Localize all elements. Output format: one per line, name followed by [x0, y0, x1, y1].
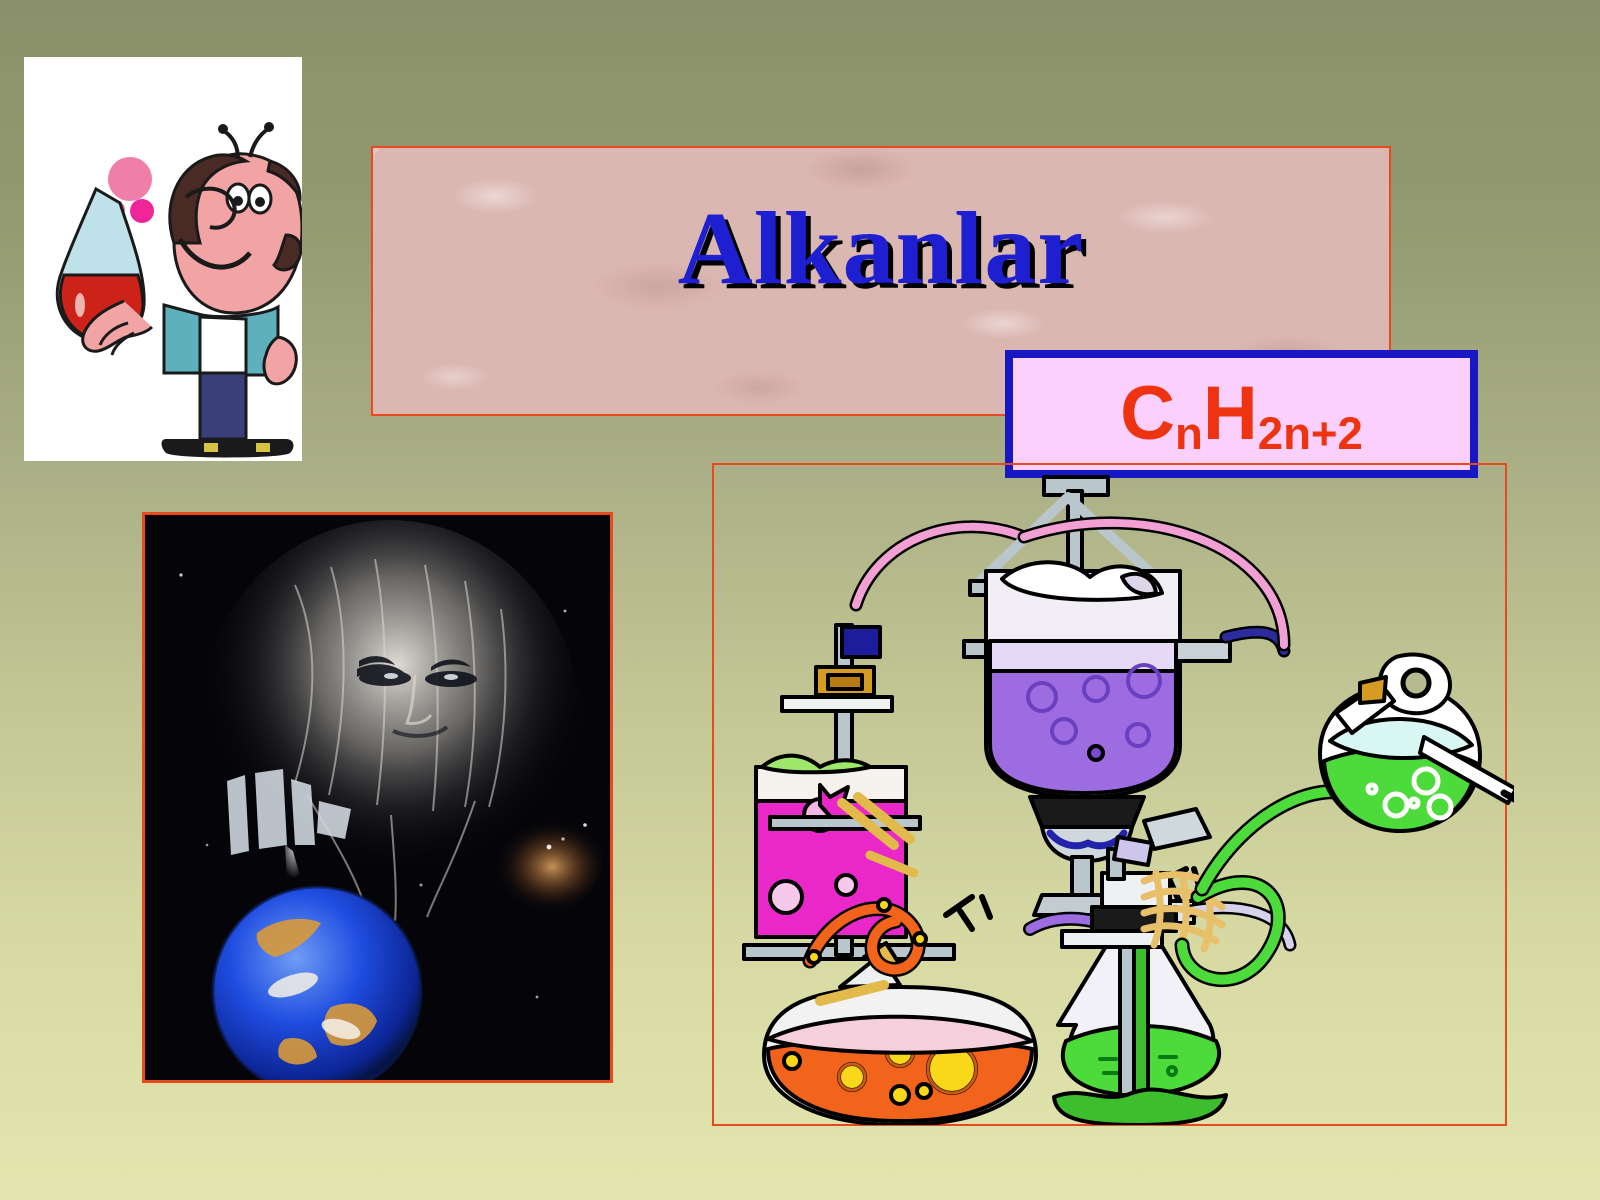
cartoon-chemist-drawing — [24, 57, 302, 461]
image-cartoon-chemist — [24, 57, 302, 461]
formula-element-hydrogen: H — [1203, 371, 1258, 456]
lab-apparatus-drawing — [724, 445, 1514, 1125]
page-title: Alkanlar — [373, 194, 1389, 303]
image-chemistry-lab-apparatus — [712, 463, 1507, 1126]
image-creator-in-nebula — [142, 512, 613, 1083]
formula-element-carbon: C — [1120, 371, 1175, 456]
slide-canvas: Alkanlar CnH2n+2 — [0, 0, 1600, 1200]
general-formula: CnH2n+2 — [1120, 376, 1363, 452]
nebula-face-drawing — [145, 515, 613, 1083]
